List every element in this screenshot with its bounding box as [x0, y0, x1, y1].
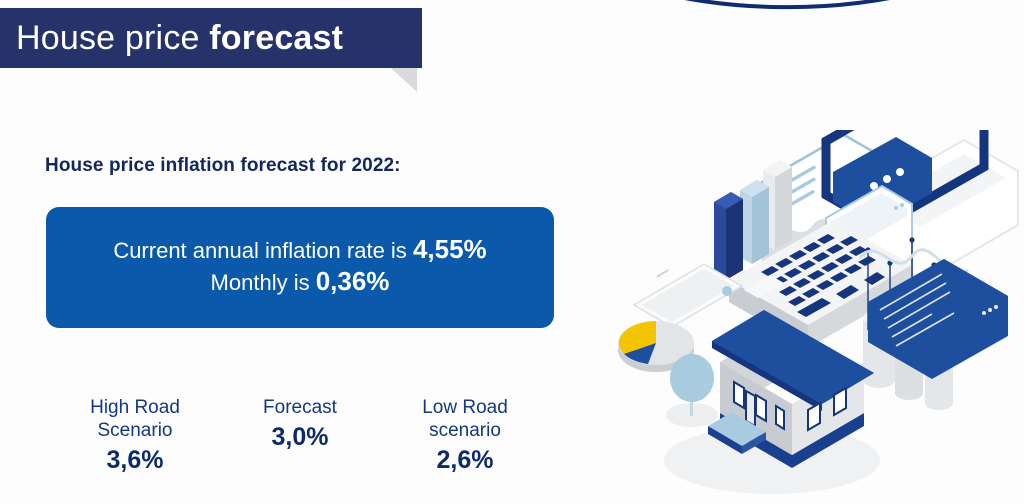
- scenario-high-road-label: High Road Scenario: [60, 396, 210, 442]
- page-title: House price forecast: [0, 20, 343, 56]
- scenario-low-road-value: 2,6%: [390, 446, 540, 475]
- scenario-forecast-value: 3,0%: [225, 423, 375, 452]
- scenario-high-road-value: 3,6%: [60, 446, 210, 475]
- scenario-low-road-label: Low Road scenario: [390, 396, 540, 442]
- page-title-bold: forecast: [209, 19, 343, 57]
- scenario-high-road: High Road Scenario 3,6%: [60, 396, 210, 475]
- decorative-arc: [540, 0, 1024, 46]
- page-title-light: House price: [16, 19, 209, 57]
- callout-monthly-prefix: Monthly is: [211, 270, 316, 295]
- callout-line-monthly: Monthly is 0,36%: [211, 266, 390, 298]
- tree-icon-left: [666, 354, 718, 427]
- house-icon: [664, 310, 880, 494]
- header-ribbon: House price forecast: [0, 8, 422, 68]
- scenario-row: High Road Scenario 3,6% Forecast 3,0% Lo…: [60, 396, 540, 475]
- callout-annual-prefix: Current annual inflation rate is: [113, 238, 413, 263]
- slide-root: House price forecast House price inflati…: [0, 0, 1024, 504]
- inflation-callout-box: Current annual inflation rate is 4,55% M…: [46, 207, 554, 328]
- callout-annual-value: 4,55%: [413, 234, 487, 264]
- scenario-forecast-label: Forecast: [225, 396, 375, 419]
- scenario-forecast: Forecast 3,0%: [225, 396, 375, 452]
- ribbon-fold-triangle: [391, 68, 417, 92]
- subtitle: House price inflation forecast for 2022:: [45, 155, 401, 177]
- scenario-low-road: Low Road scenario 2,6%: [390, 396, 540, 475]
- isometric-illustration: [612, 130, 1024, 504]
- callout-line-annual: Current annual inflation rate is 4,55%: [113, 234, 486, 266]
- callout-monthly-value: 0,36%: [316, 266, 390, 296]
